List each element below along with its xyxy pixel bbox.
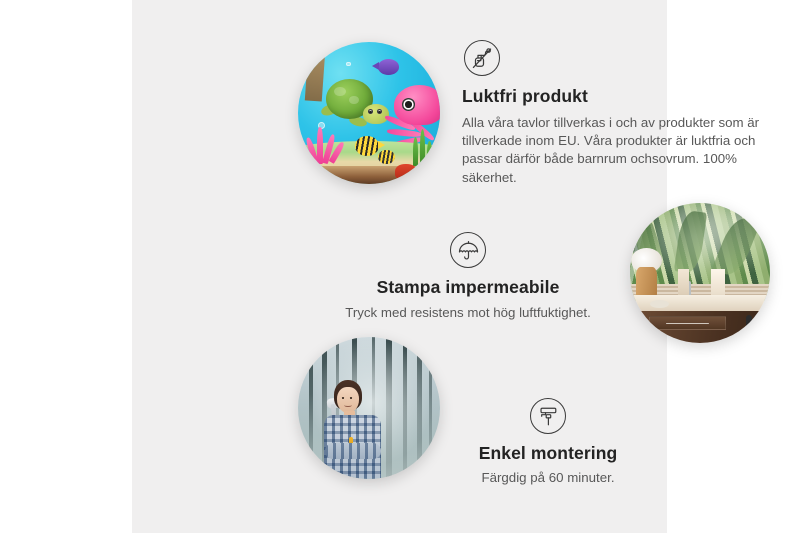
feature-title: Stampa impermeabile [332,277,604,298]
coral-pink [307,127,347,164]
no-fragrance-icon [464,40,500,76]
cabinet-handle [746,315,752,335]
octopus-head [394,85,440,126]
smile [344,404,352,407]
image-woman-painter-forest-mural [298,337,440,479]
turtle-eye [368,109,374,114]
forest-artwork [298,337,440,479]
face [337,387,359,414]
feature-description: Tryck med resistens mot hög luftfuktighe… [332,304,604,322]
seaweed-green [412,129,435,166]
wood-vanity-cabinet [641,311,770,343]
paint-roller-icon [530,398,566,434]
feature-easy-mounting: Enkel montering Färgdig på 60 minuter. [432,398,664,487]
bathroom-artwork [630,203,770,343]
ocean-artwork [298,42,440,184]
octopus-eye [402,98,415,110]
infographic-canvas: Luktfri produkt Alla våra tavlor tillver… [0,0,800,533]
infographic-panel: Luktfri produkt Alla våra tavlor tillver… [132,0,667,533]
turtle-head [363,104,389,123]
feature-description: Alla våra tavlor tillverkas i och av pro… [462,114,762,187]
umbrella-icon [450,232,486,268]
fish-purple [378,59,399,75]
woman-painter [318,380,392,479]
feature-title: Enkel montering [432,443,664,464]
bubble-icon [346,62,350,66]
crossed-arms [325,443,381,459]
feature-odorless-product: Luktfri produkt Alla våra tavlor tillver… [462,40,762,187]
feature-waterproof-print: Stampa impermeabile Tryck med resistens … [332,232,604,322]
soap-dish [650,300,670,308]
eye [342,397,344,398]
fish-angelfish [355,136,379,156]
feature-title: Luktfri produkt [462,86,762,107]
crab [395,164,418,180]
eye [350,397,352,398]
room-floor-strip [298,166,440,184]
vanity-drawer [649,316,726,330]
turtle-eye [377,109,383,114]
feature-description: Färgdig på 60 minuter. [432,469,664,487]
image-bathroom-tropical-wallpaper [630,203,770,343]
sea-turtle [321,79,386,130]
fish-small [378,150,395,164]
image-ocean-kids-mural [298,42,440,184]
